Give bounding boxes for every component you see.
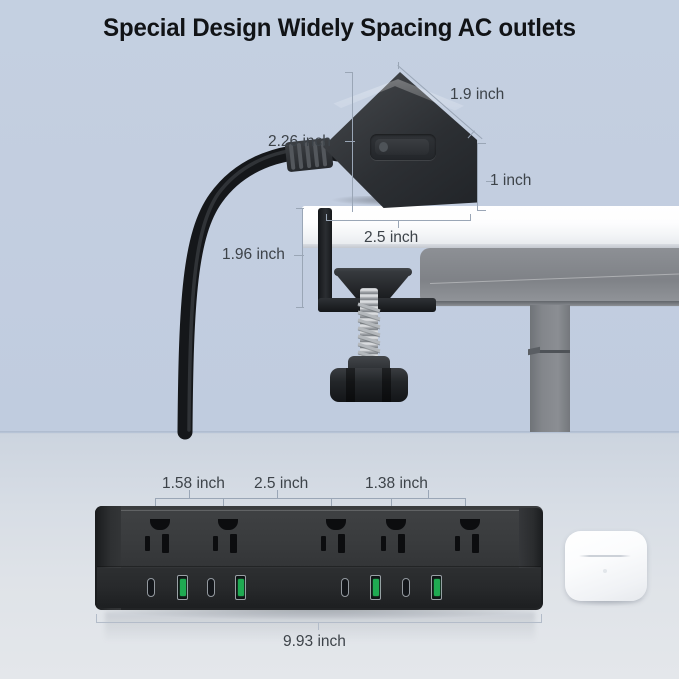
outlet-ground-hole: [460, 519, 480, 530]
ac-outlet[interactable]: [138, 519, 182, 559]
power-switch-inner: [375, 139, 429, 155]
earbuds-case-lid-seam: [579, 555, 631, 557]
ac-outlet[interactable]: [314, 519, 358, 559]
outlet-slot-right: [338, 534, 345, 553]
dim-tick-height-top: [345, 72, 353, 73]
usb-c-port[interactable]: [147, 578, 155, 597]
outlet-slot-right: [230, 534, 237, 553]
desk-apron: [420, 248, 679, 306]
outlet-slot-right: [472, 534, 479, 553]
dim-label-spacing-3: 1.38 inch: [365, 475, 428, 493]
dim-label-height: 2.26 inch: [268, 133, 331, 151]
power-switch[interactable]: [370, 134, 436, 160]
dim-tick-height-mid: [345, 141, 355, 142]
outlet-slot-left: [213, 536, 218, 551]
dim-tick-gap-bottom: [296, 307, 304, 308]
usb-a-contact-block: [238, 579, 244, 596]
outlet-slot-left: [321, 536, 326, 551]
outlet-slot-right: [398, 534, 405, 553]
earbuds-charging-case: [565, 531, 647, 601]
desk-leg: [530, 305, 570, 432]
dim-tick-front-top: [477, 143, 486, 144]
dim-tick-front-bottom: [477, 210, 486, 211]
outlet-ground-hole: [386, 519, 406, 530]
power-strip-top-highlight: [103, 510, 535, 511]
outlet-slot-left: [455, 536, 460, 551]
dim-tick-total-left: [96, 614, 97, 623]
ac-outlet[interactable]: [206, 519, 250, 559]
dim-tick-gap-top: [296, 208, 304, 209]
dim-line-spacing-bar: [155, 498, 465, 499]
usb-a-port[interactable]: [235, 575, 246, 600]
power-switch-rocker: [379, 142, 388, 152]
usb-a-contact-block: [434, 579, 440, 596]
dim-tick-total-right: [541, 614, 542, 623]
outlet-ground-hole: [218, 519, 238, 530]
usb-a-port[interactable]: [177, 575, 188, 600]
usb-c-port[interactable]: [402, 578, 410, 597]
clamp-knob: [330, 368, 408, 402]
dim-label-spacing-2: 2.5 inch: [254, 475, 308, 493]
clamp-vertical-arm: [318, 208, 332, 312]
dim-line-total-length: [96, 622, 542, 623]
dim-tick-spacing-3-mid: [428, 490, 429, 499]
dim-tick-gap-mid: [294, 255, 304, 256]
usb-c-port[interactable]: [341, 578, 349, 597]
ac-outlet[interactable]: [374, 519, 418, 559]
outlet-slot-right: [162, 534, 169, 553]
outlet-ground-hole: [326, 519, 346, 530]
usb-a-port[interactable]: [431, 575, 442, 600]
outlet-slot-left: [381, 536, 386, 551]
page-title: Special Design Widely Spacing AC outlets: [14, 14, 666, 43]
dim-tick-width-mid: [398, 220, 399, 228]
dim-tick-width-right: [470, 214, 471, 221]
usb-a-contact-block: [373, 579, 379, 596]
usb-a-port[interactable]: [370, 575, 381, 600]
ac-outlet[interactable]: [448, 519, 492, 559]
dim-label-spacing-1: 1.58 inch: [162, 475, 225, 493]
usb-c-port[interactable]: [207, 578, 215, 597]
dim-tick-total-mid: [318, 622, 319, 630]
dim-label-clamp-gap: 1.96 inch: [222, 246, 285, 264]
outlet-ground-hole: [150, 519, 170, 530]
dim-tick-width-left: [326, 214, 327, 221]
dim-line-front-height: [477, 143, 478, 211]
dim-label-front-height: 1 inch: [490, 172, 531, 190]
infographic-canvas: Special Design Widely Spacing AC outlets: [0, 0, 679, 679]
usb-a-contact-block: [180, 579, 186, 596]
dim-line-height: [352, 72, 353, 212]
dim-line-clamp-gap: [302, 208, 303, 308]
earbuds-case-led: [603, 569, 607, 573]
dim-tick-depth-start: [398, 62, 399, 69]
power-strip: [95, 506, 543, 610]
dim-label-depth: 1.9 inch: [450, 86, 504, 104]
dim-label-width: 2.5 inch: [364, 229, 418, 247]
dim-label-total-length: 9.93 inch: [283, 633, 346, 651]
power-strip-front-face: [97, 568, 541, 608]
outlet-slot-left: [145, 536, 150, 551]
